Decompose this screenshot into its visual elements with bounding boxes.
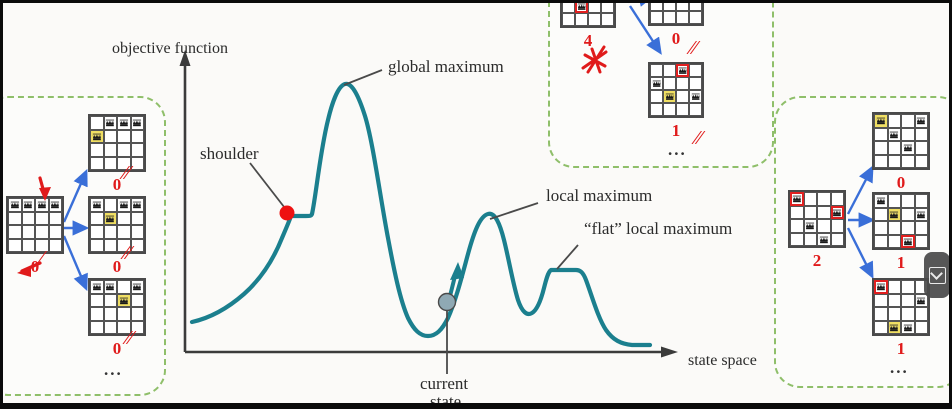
frame-edge-left [0,0,3,409]
red-star-scribble [583,47,606,72]
slide-canvas: objective function state space global ma… [0,0,952,409]
pip-icon [929,267,946,284]
picture-in-picture-toggle[interactable] [924,252,950,298]
red-pen-layer [0,0,952,409]
